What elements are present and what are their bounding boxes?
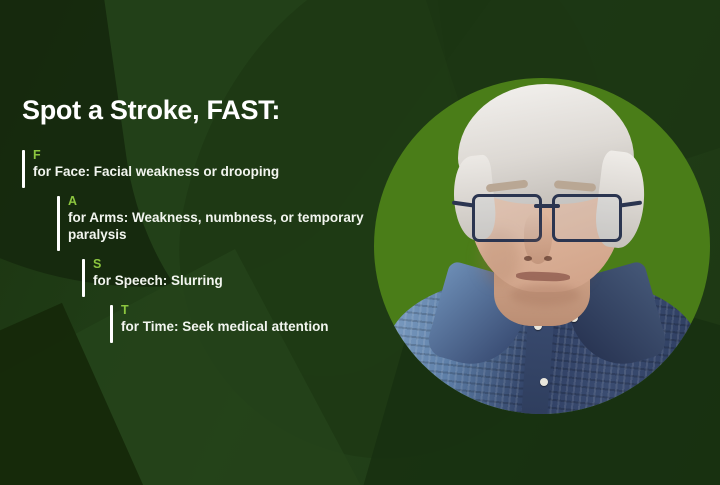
nostril-right bbox=[544, 256, 552, 261]
fast-acronym-list: F for Face: Facial weakness or drooping … bbox=[0, 148, 400, 349]
lens-right bbox=[552, 194, 622, 242]
fast-item-t: T for Time: Seek medical attention bbox=[110, 303, 400, 335]
fast-item-s: S for Speech: Slurring bbox=[82, 257, 400, 289]
chin-shadow bbox=[510, 284, 580, 306]
fast-letter-s: S bbox=[93, 257, 400, 272]
portrait-photo bbox=[374, 78, 710, 414]
fast-text-f: for Face: Facial weakness or drooping bbox=[33, 163, 333, 180]
portrait-circle bbox=[374, 78, 710, 414]
fast-letter-t: T bbox=[121, 303, 400, 318]
fast-item-a: A for Arms: Weakness, numbness, or tempo… bbox=[57, 194, 400, 243]
accent-bar bbox=[82, 259, 85, 297]
fast-letter-a: A bbox=[68, 194, 400, 209]
fast-text-s: for Speech: Slurring bbox=[93, 272, 393, 289]
fast-text-t: for Time: Seek medical attention bbox=[121, 318, 400, 335]
glasses-bridge bbox=[534, 204, 560, 208]
nostril-left bbox=[524, 256, 532, 261]
fast-text-a: for Arms: Weakness, numbness, or tempora… bbox=[68, 209, 368, 243]
accent-bar bbox=[57, 196, 60, 251]
shirt-button bbox=[540, 378, 548, 386]
accent-bar bbox=[110, 305, 113, 343]
fast-item-f: F for Face: Facial weakness or drooping bbox=[22, 148, 400, 180]
poster-canvas: Spot a Stroke, FAST: F for Face: Facial … bbox=[0, 0, 720, 485]
person-illustration bbox=[374, 78, 710, 414]
fast-letter-f: F bbox=[33, 148, 400, 163]
page-title: Spot a Stroke, FAST: bbox=[22, 95, 280, 126]
accent-bar bbox=[22, 150, 25, 188]
